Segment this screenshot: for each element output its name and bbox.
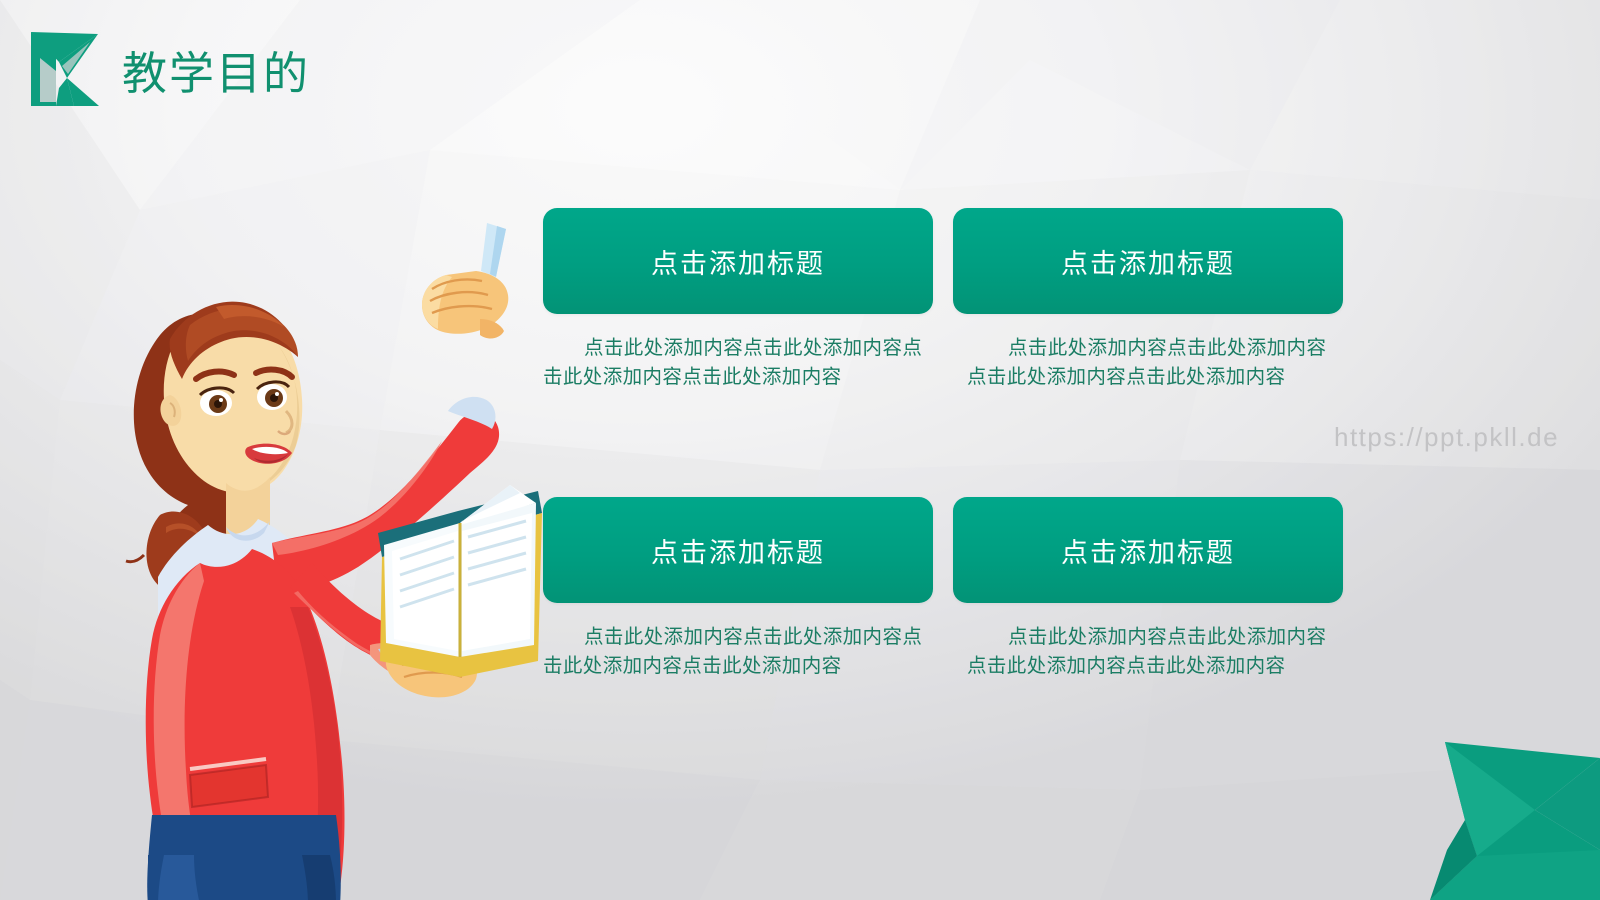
slide-header: 教学目的 — [0, 0, 1600, 150]
card-body-text-4[interactable]: 点击此处添加内容点击此处添加内容点击此处添加内容点击此处添加内容 — [953, 623, 1343, 681]
content-card-4: 点击添加标题 点击此处添加内容点击此处添加内容点击此处添加内容点击此处添加内容 — [953, 497, 1343, 681]
card-title-button-4[interactable]: 点击添加标题 — [953, 497, 1343, 603]
green-polygon-corner-decoration — [1385, 700, 1600, 900]
raised-hand — [422, 271, 508, 338]
card-body-text-3[interactable]: 点击此处添加内容点击此处添加内容点击此处添加内容点击此处添加内容 — [543, 623, 933, 681]
content-card-1: 点击添加标题 点击此处添加内容点击此处添加内容点击此处添加内容点击此处添加内容 — [543, 208, 933, 392]
page-title: 教学目的 — [122, 45, 310, 103]
card-body-text-1[interactable]: 点击此处添加内容点击此处添加内容点击此处添加内容点击此处添加内容 — [543, 334, 933, 392]
stylized-k-logo-icon — [26, 26, 104, 112]
content-card-2: 点击添加标题 点击此处添加内容点击此处添加内容点击此处添加内容点击此处添加内容 — [953, 208, 1343, 392]
slide-canvas: 教学目的 点击添加标题 点击此处添加内容点击此处添加内容点击此处添加内容点击此处… — [0, 0, 1600, 900]
watermark-url: https://ppt.pkll.de — [1334, 422, 1559, 453]
card-title-button-2[interactable]: 点击添加标题 — [953, 208, 1343, 314]
teacher-trousers — [147, 815, 341, 900]
content-card-3: 点击添加标题 点击此处添加内容点击此处添加内容点击此处添加内容点击此处添加内容 — [543, 497, 933, 681]
card-body-text-2[interactable]: 点击此处添加内容点击此处添加内容点击此处添加内容点击此处添加内容 — [953, 334, 1343, 392]
female-teacher-illustration — [40, 215, 560, 900]
card-title-button-3[interactable]: 点击添加标题 — [543, 497, 933, 603]
card-title-button-1[interactable]: 点击添加标题 — [543, 208, 933, 314]
